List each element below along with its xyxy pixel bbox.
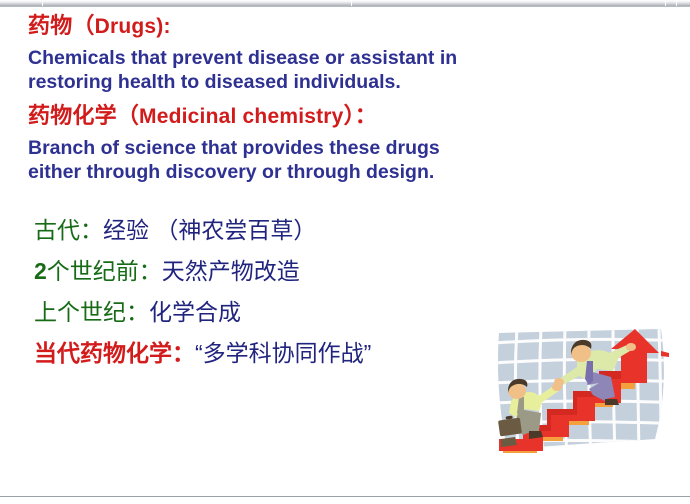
heading-chinese-term: 药物: [28, 13, 72, 38]
history-label: 上个世纪：: [34, 299, 149, 325]
history-value: “多学科协同作战”: [195, 340, 371, 366]
heading-english-term: Medicinal chemistry: [139, 105, 344, 128]
history-label-number: 2: [34, 258, 47, 284]
history-value: 经验 （神农尝百草）: [103, 217, 316, 243]
top-rule-tick: [42, 0, 43, 6]
heading-paren-open: （: [117, 103, 139, 128]
heading-paren-open: （: [72, 13, 94, 38]
top-rule-tick: [351, 0, 352, 6]
definition-body-drugs: Chemicals that prevent disease or assist…: [0, 42, 646, 98]
definition-body-medicinal-chemistry: Branch of science that provides these dr…: [0, 132, 646, 188]
history-label: 当代药物化学：: [34, 340, 195, 366]
bottom-edge-rule: [0, 496, 690, 497]
top-rule-tick: [676, 0, 677, 6]
slide-content: 药物（Drugs): Chemicals that prevent diseas…: [0, 8, 690, 374]
heading-english-term: Drugs: [95, 15, 157, 38]
heading-paren-close: ）：: [344, 103, 377, 128]
section-spacer: [0, 188, 690, 210]
definition-body-line: Branch of science that provides these dr…: [28, 136, 618, 160]
slide-canvas: 药物（Drugs): Chemicals that prevent diseas…: [0, 0, 690, 504]
heading-paren-close: ):: [156, 15, 170, 38]
history-value: 天然产物改造: [162, 258, 300, 284]
definition-heading-drugs: 药物（Drugs):: [0, 8, 690, 42]
definition-heading-medicinal-chemistry: 药物化学（Medicinal chemistry）：: [0, 98, 690, 132]
history-item-two-centuries-ago: 2个世纪前：天然产物改造: [0, 251, 690, 292]
definition-body-line: Chemicals that prevent disease or assist…: [28, 46, 618, 70]
history-label: 个世纪前：: [47, 258, 162, 284]
top-edge-rule-line: [0, 6, 690, 7]
history-label: 古代：: [34, 217, 103, 243]
history-item-ancient: 古代：经验 （神农尝百草）: [0, 210, 690, 251]
top-rule-tick: [665, 0, 666, 6]
arrow-tip-accent: [661, 351, 669, 357]
heading-chinese-term: 药物化学: [28, 103, 117, 128]
history-value: 化学合成: [149, 299, 241, 325]
definition-body-line: restoring health to diseased individuals…: [28, 70, 618, 94]
definition-body-line: either through discovery or through desi…: [28, 160, 618, 184]
businessmen-climbing-red-arrow-chart-image: [493, 327, 683, 457]
